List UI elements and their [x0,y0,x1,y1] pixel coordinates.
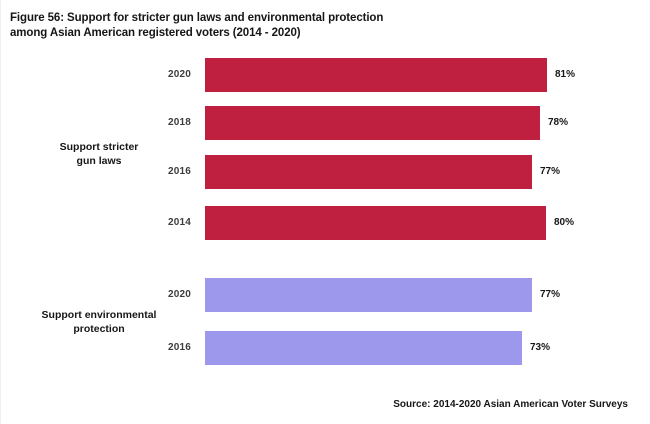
bar-gun-laws-2018[interactable] [205,106,540,140]
value-label-gun-laws-2016: 77% [540,155,560,189]
bar-gun-laws-2020[interactable] [205,58,547,92]
chart-plot-area: Support stricter gun laws 2020 81% 2018 … [1,0,650,424]
category-label-gun-laws-2014: 2014 [111,206,191,240]
bar-gun-laws-2014[interactable] [205,206,546,240]
category-label-gun-laws-2018: 2018 [111,106,191,140]
value-label-environment-2020: 77% [540,278,560,312]
value-label-gun-laws-2018: 78% [548,106,568,140]
value-label-environment-2016: 73% [530,331,550,365]
value-label-gun-laws-2020: 81% [555,58,575,92]
category-label-gun-laws-2020: 2020 [111,58,191,92]
bar-environment-2020[interactable] [205,278,532,312]
bar-environment-2016[interactable] [205,331,522,365]
source-note: Source: 2014-2020 Asian American Voter S… [393,399,628,410]
figure-container: Figure 56: Support for stricter gun laws… [0,0,650,424]
category-label-gun-laws-2016: 2016 [111,155,191,189]
category-label-environment-2016: 2016 [111,331,191,365]
category-label-environment-2020: 2020 [111,278,191,312]
value-label-gun-laws-2014: 80% [554,206,574,240]
bar-gun-laws-2016[interactable] [205,155,532,189]
